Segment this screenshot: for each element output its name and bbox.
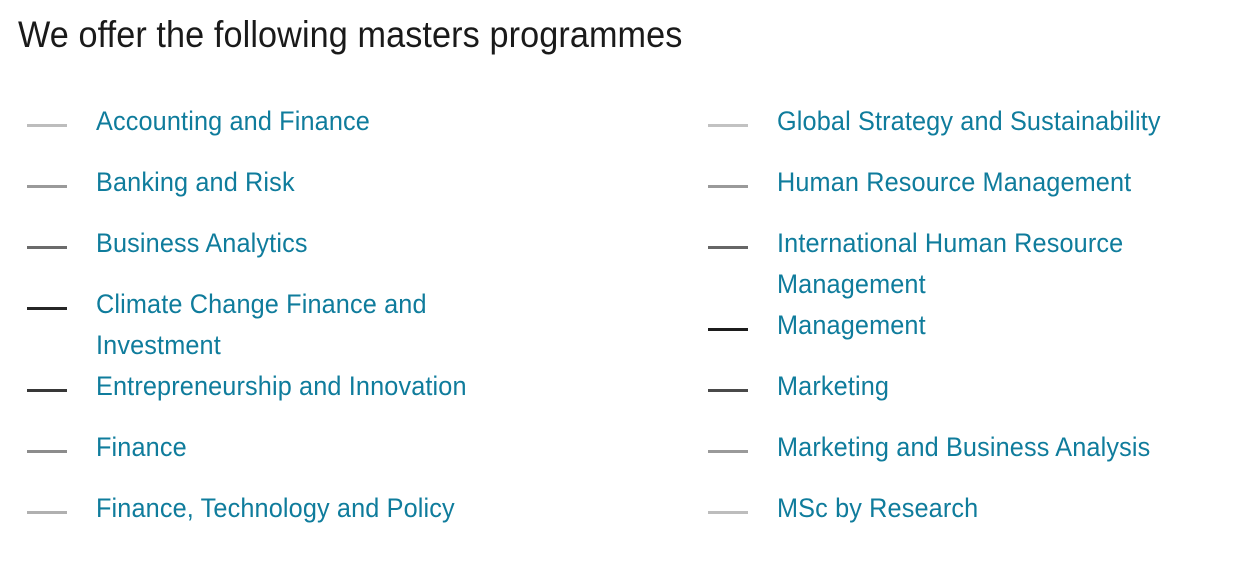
list-item[interactable]: Entrepreneurship and Innovation [27, 366, 667, 427]
programme-link[interactable]: Finance [96, 427, 187, 468]
programme-list-left: Accounting and Finance Banking and Risk … [27, 101, 667, 549]
programme-column-right: Global Strategy and Sustainability Human… [708, 101, 1233, 549]
dash-icon [27, 450, 67, 453]
programme-link[interactable]: Accounting and Finance [96, 101, 370, 142]
dash-icon [708, 511, 748, 514]
list-item[interactable]: Marketing [708, 366, 1233, 427]
programme-column-left: Accounting and Finance Banking and Risk … [27, 101, 667, 549]
dash-icon [708, 328, 748, 331]
dash-icon [708, 389, 748, 392]
programme-link[interactable]: Marketing [777, 366, 889, 407]
dash-icon [708, 450, 748, 453]
programme-link[interactable]: MSc by Research [777, 488, 978, 529]
list-item[interactable]: MSc by Research [708, 488, 1233, 549]
list-item[interactable]: Banking and Risk [27, 162, 667, 223]
dash-icon [27, 511, 67, 514]
page-title: We offer the following masters programme… [18, 13, 682, 57]
dash-icon [27, 389, 67, 392]
programme-link[interactable]: Management [777, 305, 926, 346]
list-item[interactable]: Global Strategy and Sustainability [708, 101, 1233, 162]
programme-list-right: Global Strategy and Sustainability Human… [708, 101, 1233, 549]
list-item[interactable]: Marketing and Business Analysis [708, 427, 1233, 488]
dash-icon [708, 185, 748, 188]
dash-icon [27, 124, 67, 127]
dash-icon [708, 124, 748, 127]
list-item[interactable]: Management [708, 305, 1233, 366]
list-item[interactable]: Accounting and Finance [27, 101, 667, 162]
list-item[interactable]: International Human Resource Management [708, 223, 1233, 305]
programme-link[interactable]: Finance, Technology and Policy [96, 488, 455, 529]
dash-icon [27, 307, 67, 310]
programme-link[interactable]: Banking and Risk [96, 162, 295, 203]
programmes-page: We offer the following masters programme… [0, 0, 1249, 581]
programme-link[interactable]: Human Resource Management [777, 162, 1131, 203]
programme-link[interactable]: Marketing and Business Analysis [777, 427, 1150, 468]
dash-icon [708, 246, 748, 249]
list-item[interactable]: Climate Change Finance and Investment [27, 284, 667, 366]
list-item[interactable]: Finance [27, 427, 667, 488]
dash-icon [27, 246, 67, 249]
programme-link[interactable]: Business Analytics [96, 223, 308, 264]
list-item[interactable]: Human Resource Management [708, 162, 1233, 223]
dash-icon [27, 185, 67, 188]
programme-link[interactable]: Entrepreneurship and Innovation [96, 366, 467, 407]
programme-link[interactable]: Climate Change Finance and Investment [96, 284, 498, 366]
programme-link[interactable]: International Human Resource Management [777, 223, 1179, 305]
programme-link[interactable]: Global Strategy and Sustainability [777, 101, 1161, 142]
list-item[interactable]: Finance, Technology and Policy [27, 488, 667, 549]
list-item[interactable]: Business Analytics [27, 223, 667, 284]
